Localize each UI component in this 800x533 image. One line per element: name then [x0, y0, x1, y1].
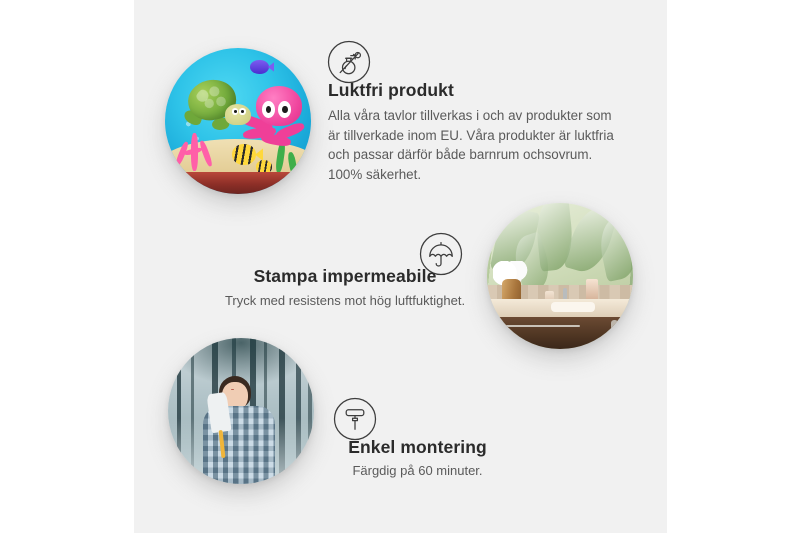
- sink-basin: [551, 302, 595, 312]
- green-turtle: [183, 80, 247, 133]
- feature-body-easy-mounting: Färgdig på 60 minuter.: [300, 461, 535, 481]
- forest-photo: [168, 338, 314, 484]
- feature-body-waterproof-print: Tryck med resistens mot hög luftfuktighe…: [205, 291, 485, 311]
- pink-octopus: [247, 86, 305, 150]
- feature-heading-easy-mounting: Enkel montering: [300, 437, 535, 458]
- wood-vanity-cabinet: [490, 317, 633, 349]
- yellow-striped-fish-large: [232, 144, 255, 164]
- feature-image-bathroom-tropical-wallpaper: [487, 203, 633, 349]
- feature-body-odour-free: Alla våra tavlor tillverkas i och av pro…: [328, 106, 620, 184]
- feature-heading-odour-free: Luktfri produkt: [328, 80, 620, 101]
- sea-floor-rocks: [165, 172, 311, 194]
- feature-text-odour-free: Luktfri produkt Alla våra tavlor tillver…: [328, 80, 620, 184]
- underwater-illustration: [165, 48, 311, 194]
- feature-image-woman-with-paint-roller-forest: [168, 338, 314, 484]
- feature-text-easy-mounting: Enkel montering Färgdig på 60 minuter.: [300, 437, 535, 481]
- no-perfume-spray-icon: [326, 39, 372, 85]
- feature-image-underwater-kids-scene: [165, 48, 311, 194]
- pink-coral: [174, 127, 218, 171]
- blue-fish: [250, 60, 269, 75]
- woman-figure: [200, 376, 285, 484]
- feature-text-waterproof-print: Stampa impermeabile Tryck med resistens …: [205, 266, 485, 311]
- promo-banner: Luktfri produkt Alla våra tavlor tillver…: [0, 0, 800, 533]
- paint-roller-icon: [332, 396, 378, 442]
- bathroom-photo: [487, 203, 633, 349]
- feature-heading-waterproof-print: Stampa impermeabile: [205, 266, 485, 287]
